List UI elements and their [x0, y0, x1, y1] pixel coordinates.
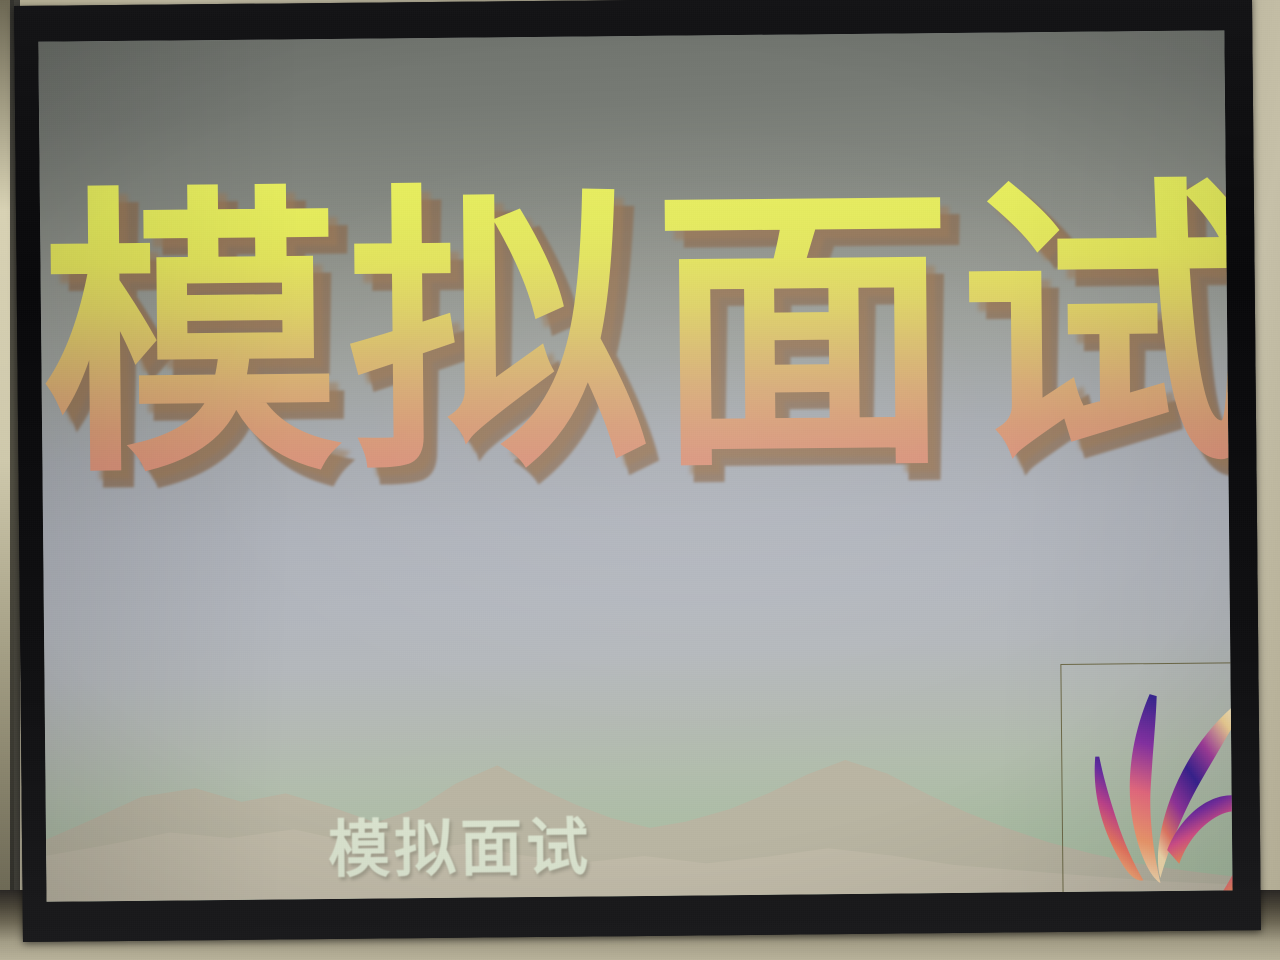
slide-title: 模拟面试 — [40, 158, 1229, 505]
mountain-silhouette-graphic — [45, 740, 1232, 901]
slide-title-group: 模拟面试 模拟面试 模拟面试 — [40, 158, 1231, 669]
projection-screen-frame: 模拟面试 模拟面试 模拟面试 模拟面试 — [14, 0, 1261, 942]
swoosh-flourish-logo-icon — [1061, 663, 1232, 902]
screenshot-root: 模拟面试 模拟面试 模拟面试 模拟面试 — [0, 0, 1280, 960]
projected-slide: 模拟面试 模拟面试 模拟面试 模拟面试 — [38, 30, 1232, 901]
slide-subtitle: 模拟面试 — [328, 796, 593, 889]
slide-logo-placeholder — [1060, 662, 1232, 902]
